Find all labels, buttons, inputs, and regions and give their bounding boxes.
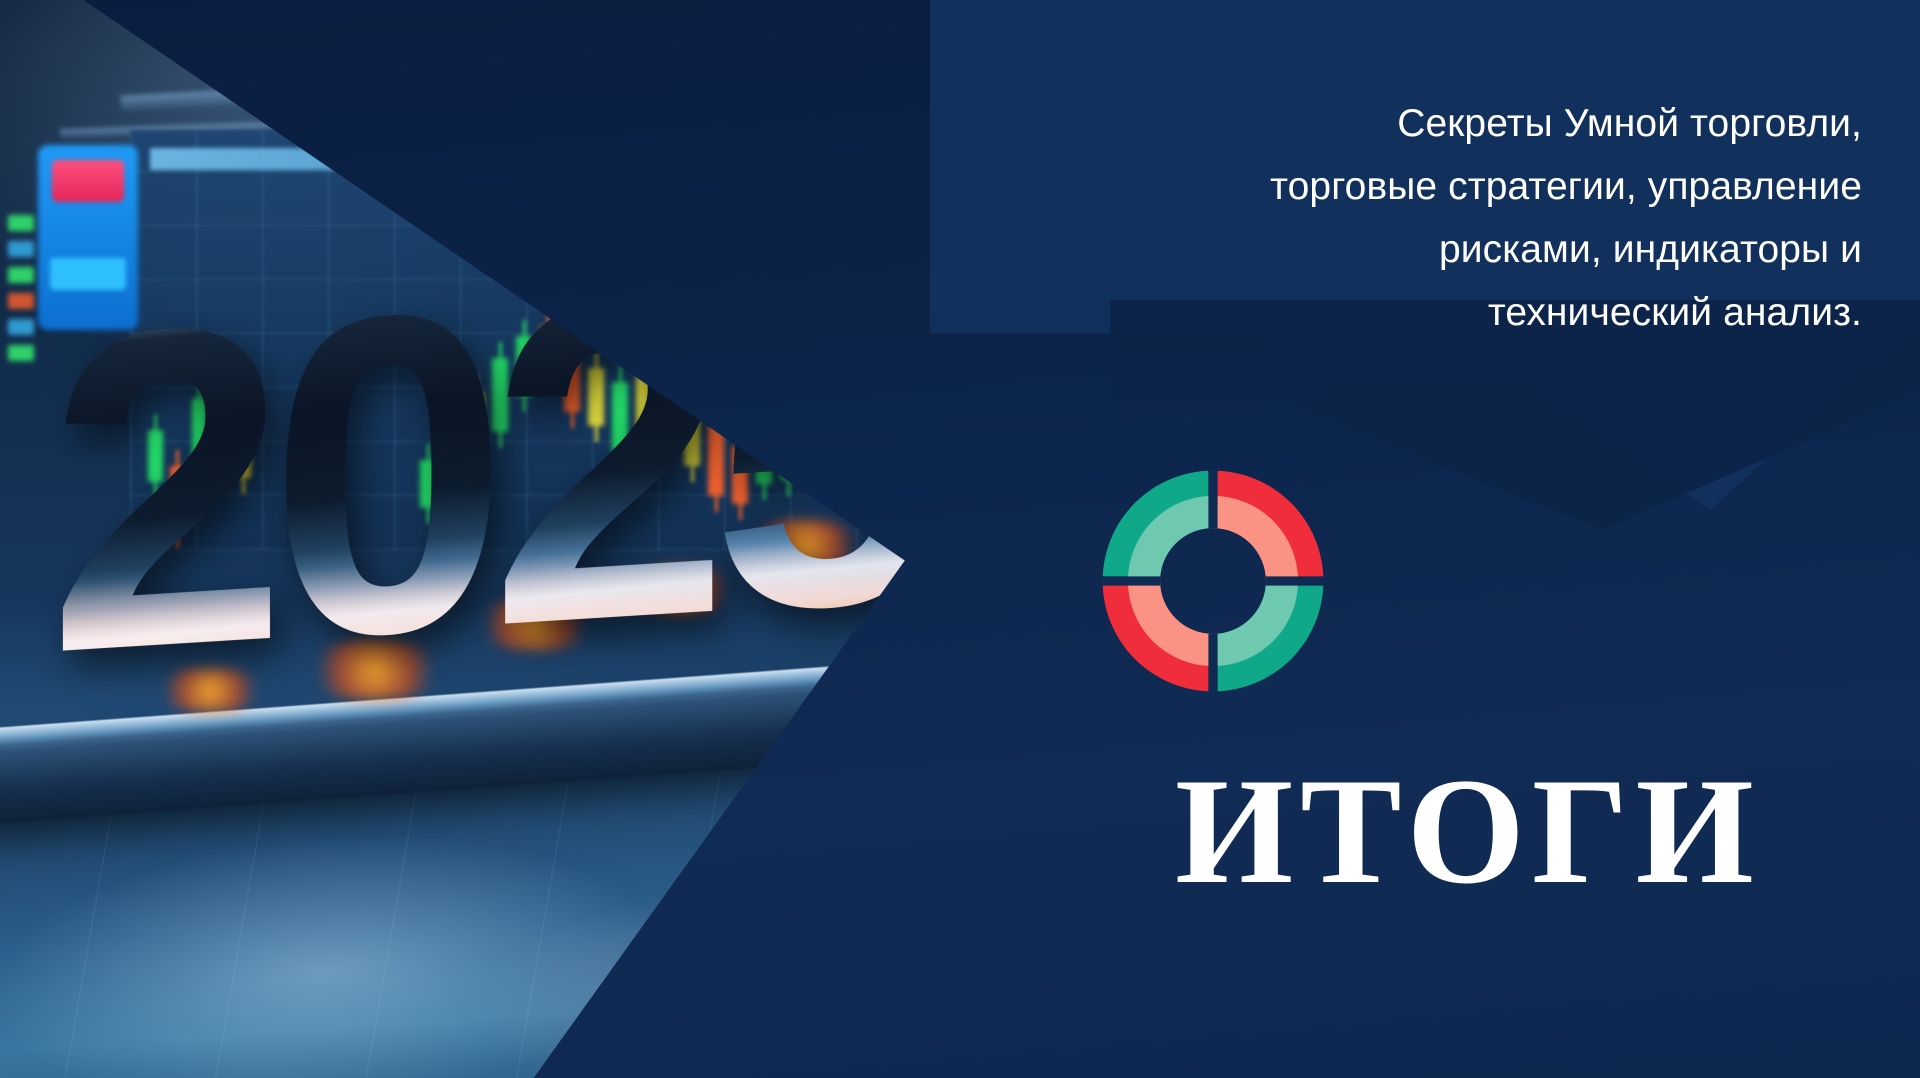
quadrant-donut-logo <box>1098 466 1328 696</box>
ticker-red-badge <box>52 160 124 202</box>
logo-horizontal-gap <box>1098 576 1328 585</box>
tagline-line-4: технический анализ. <box>982 281 1862 344</box>
tagline-block: Секреты Умной торговли, торговые стратег… <box>982 92 1862 344</box>
poster-canvas: 2025 2025 Секреты Умной торговли, торгов… <box>0 0 1920 1078</box>
brand-wordmark: ИТОГИ <box>1175 756 1875 906</box>
tagline-line-2: торговые стратегии, управление <box>982 155 1862 218</box>
logo-svg <box>1098 466 1328 696</box>
tagline-line-1: Секреты Умной торговли, <box>982 92 1862 155</box>
tagline-line-3: рисками, индикаторы и <box>982 218 1862 281</box>
logo-vertical-gap <box>1208 466 1217 696</box>
side-indicator-bars <box>8 215 34 415</box>
